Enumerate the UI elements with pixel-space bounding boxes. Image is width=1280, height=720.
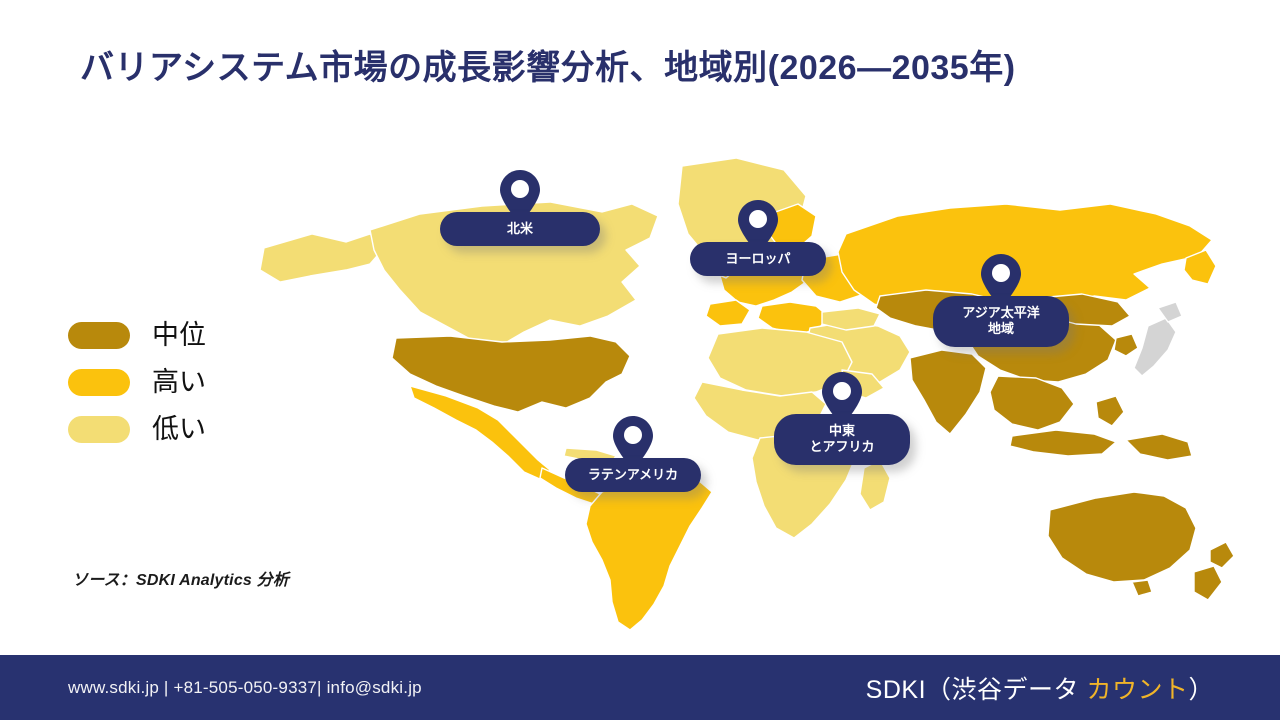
- world-map: 北米 ヨーロッパ アジア太平洋 地域 中東 とアフリカ: [250, 130, 1260, 640]
- map-marker-europe[interactable]: ヨーロッパ: [690, 198, 826, 276]
- region-australia: [1048, 492, 1196, 582]
- region-turkey: [822, 308, 880, 330]
- map-marker-latin-america[interactable]: ラテンアメリカ: [565, 414, 701, 492]
- footer-brand-accent: カウント: [1086, 676, 1188, 704]
- region-southeast-asia: [990, 376, 1074, 430]
- page-title: バリアシステム市場の成長影響分析、地域別(2026—2035年): [80, 40, 1200, 89]
- map-marker-asia-pacific[interactable]: アジア太平洋 地域: [933, 252, 1069, 347]
- region-indonesia: [1010, 430, 1116, 456]
- region-philippines: [1096, 396, 1124, 426]
- region-india: [910, 350, 986, 434]
- region-new-zealand: [1210, 542, 1234, 568]
- legend-label-high: 高い: [152, 369, 206, 396]
- legend-swatch-high: [68, 369, 130, 396]
- region-new-guinea: [1126, 434, 1192, 460]
- region-madagascar: [860, 460, 890, 510]
- legend-swatch-mid: [68, 322, 130, 349]
- region-japan: [1134, 318, 1176, 376]
- map-marker-label: ラテンアメリカ: [565, 458, 701, 492]
- region-south-america: [586, 478, 712, 630]
- legend-label-mid: 中位: [152, 322, 206, 349]
- region-alaska: [260, 234, 384, 282]
- region-korea: [1114, 334, 1138, 356]
- region-new-zealand-south: [1194, 566, 1222, 600]
- legend-item-mid: 中位: [68, 312, 206, 359]
- map-marker-label: ヨーロッパ: [690, 242, 826, 276]
- footer-brand-prefix: SDKI（渋谷データ: [866, 676, 1087, 704]
- footer-brand: SDKI（渋谷データ カウント）: [866, 670, 1214, 706]
- source-note: ソース：SDKI Analytics 分析: [72, 566, 289, 590]
- map-marker-label: アジア太平洋 地域: [933, 296, 1069, 347]
- map-marker-north-america[interactable]: 北米: [440, 168, 600, 246]
- legend: 中位 高い 低い: [68, 312, 206, 453]
- footer-contact: www.sdki.jp | +81-505-050-9337| info@sdk…: [68, 678, 422, 698]
- legend-item-low: 低い: [68, 406, 206, 453]
- slide-canvas: バリアシステム市場の成長影響分析、地域別(2026—2035年): [0, 0, 1280, 720]
- map-marker-label: 中東 とアフリカ: [774, 414, 910, 465]
- legend-swatch-low: [68, 416, 130, 443]
- footer-bar: www.sdki.jp | +81-505-050-9337| info@sdk…: [0, 655, 1280, 720]
- region-tasmania: [1132, 580, 1152, 596]
- legend-item-high: 高い: [68, 359, 206, 406]
- map-marker-label: 北米: [440, 212, 600, 246]
- legend-label-low: 低い: [152, 416, 206, 443]
- footer-brand-suffix: ）: [1188, 676, 1214, 704]
- region-hokkaido: [1158, 302, 1182, 322]
- map-marker-middle-east-africa[interactable]: 中東 とアフリカ: [774, 370, 910, 465]
